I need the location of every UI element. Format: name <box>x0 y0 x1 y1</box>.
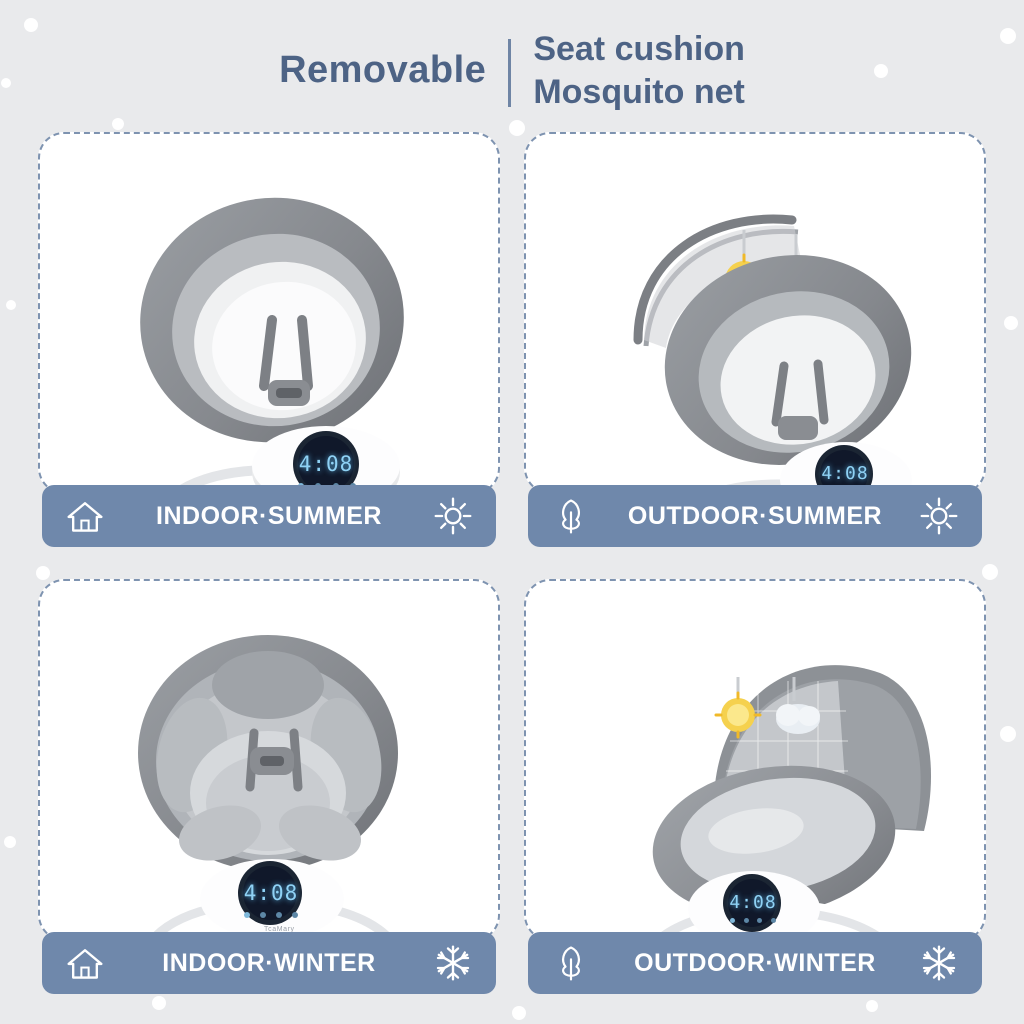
panel-indoor-winter: 4:08 TcaMary INDOOR·WINTER <box>38 579 500 994</box>
banner-indoor-winter: INDOOR·WINTER <box>42 932 496 994</box>
header-subtitle: Seat cushion Mosquito net <box>511 28 745 112</box>
control-panel-indicators <box>244 911 298 919</box>
decorative-dot <box>152 996 166 1010</box>
tree-icon <box>550 942 592 984</box>
control-panel-display: 4:08 <box>292 444 360 484</box>
decorative-dot <box>512 1006 526 1020</box>
control-panel-display: 4:08 <box>238 873 304 913</box>
panel-outdoor-winter: 4:08 TcaMary OUTDOOR·WINTER <box>524 579 986 994</box>
banner-outdoor-summer: OUTDOOR·SUMMER <box>528 485 982 547</box>
header: Removable Seat cushion Mosquito net <box>0 18 1024 123</box>
panel-image-frame: 4:08 TcaMary <box>524 579 986 941</box>
panel-image-frame: 4:08 TcaMary <box>524 132 986 494</box>
panel-indoor-summer: 4:08 TcaMary INDOOR·SUMMER <box>38 132 500 547</box>
snowflake-icon <box>918 942 960 984</box>
control-panel-display: 4:08 <box>724 885 782 919</box>
tree-icon <box>550 495 592 537</box>
banner-label: OUTDOOR·WINTER <box>592 949 918 978</box>
decorative-dot <box>1000 726 1016 742</box>
sun-icon <box>918 495 960 537</box>
snowflake-icon <box>432 942 474 984</box>
banner-label: INDOOR·WINTER <box>106 949 432 978</box>
sun-icon <box>432 495 474 537</box>
panel-image-frame: 4:08 TcaMary <box>38 132 500 494</box>
banner-label: OUTDOOR·SUMMER <box>592 502 918 531</box>
decorative-dot <box>866 1000 878 1012</box>
banner-outdoor-winter: OUTDOOR·WINTER <box>528 932 982 994</box>
header-title-removable: Removable <box>279 49 508 92</box>
panel-grid: 4:08 TcaMary INDOOR·SUMMER <box>38 132 986 994</box>
house-icon <box>64 495 106 537</box>
decorative-dot <box>1004 316 1018 330</box>
panel-image-frame: 4:08 TcaMary <box>38 579 500 941</box>
banner-indoor-summer: INDOOR·SUMMER <box>42 485 496 547</box>
control-panel-indicators <box>730 917 776 923</box>
product-photo-outdoor-summer <box>526 134 984 492</box>
product-photo-indoor-summer <box>40 134 498 492</box>
header-subtitle-line1: Seat cushion <box>533 28 745 70</box>
panel-outdoor-summer: 4:08 TcaMary OUTDOOR·SUMMER <box>524 132 986 547</box>
decorative-dot <box>4 836 16 848</box>
header-subtitle-line2: Mosquito net <box>533 71 745 113</box>
house-icon <box>64 942 106 984</box>
banner-label: INDOOR·SUMMER <box>106 502 432 531</box>
decorative-dot <box>6 300 16 310</box>
